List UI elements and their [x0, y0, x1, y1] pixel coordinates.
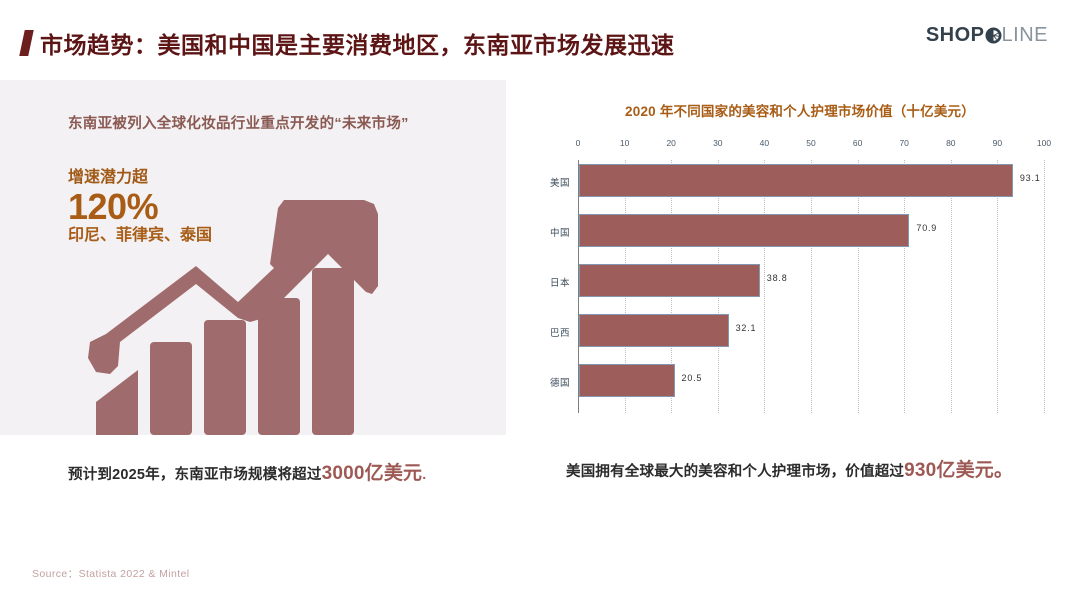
page-title: 市场趋势：美国和中国是主要消费地区，东南亚市场发展迅速: [40, 26, 675, 60]
chart-category-label: 中国: [526, 225, 570, 239]
x-axis-tick-label: 50: [806, 138, 815, 148]
kpi-value: 120%: [68, 188, 298, 226]
chart-plot-area: 010203040506070809010093.1美国70.9中国38.8日本…: [578, 138, 1048, 413]
left-caption-suffix: .: [422, 466, 426, 482]
bar-chart: 2020 年不同国家的美容和个人护理市场价值（十亿美元） 01020304050…: [530, 100, 1070, 430]
slide-header: 市场趋势：美国和中国是主要消费地区，东南亚市场发展迅速 SHOP LINE: [0, 0, 1080, 78]
source-note: Source：Statista 2022 & Mintel: [32, 566, 190, 581]
chart-category-label: 巴西: [526, 325, 570, 339]
chart-bar[interactable]: [579, 164, 1013, 197]
x-axis-tick-label: 10: [620, 138, 629, 148]
chart-bar-value-label: 20.5: [682, 373, 703, 383]
chart-bar-value-label: 93.1: [1020, 173, 1041, 183]
chart-bar[interactable]: [579, 364, 675, 397]
right-caption-prefix: 美国拥有全球最大的美容和个人护理市场，价值超过: [566, 464, 904, 480]
chart-category-label: 美国: [526, 175, 570, 189]
logo-text-shop: SHOP: [926, 25, 985, 45]
left-panel-heading: 东南亚被列入全球化妆品行业重点开发的“未来市场”: [68, 112, 498, 133]
kpi-subtext: 印尼、菲律宾、泰国: [68, 226, 298, 246]
x-axis-tick-label: 60: [853, 138, 862, 148]
x-axis-tick-label: 30: [713, 138, 722, 148]
shopline-logo: SHOP LINE: [926, 24, 1048, 46]
chart-bar-row: 20.5: [578, 364, 1044, 397]
x-axis-tick-label: 100: [1037, 138, 1051, 148]
chart-bar[interactable]: [579, 214, 909, 247]
x-axis-tick-label: 0: [576, 138, 581, 148]
chart-bar-row: 70.9: [578, 214, 1044, 247]
chart-bar-value-label: 32.1: [736, 323, 757, 333]
chart-bar-row: 32.1: [578, 314, 1044, 347]
chart-category-label: 德国: [526, 375, 570, 389]
x-axis-tick-label: 40: [760, 138, 769, 148]
left-caption: 预计到2025年，东南亚市场规模将超过3000亿美元.: [68, 458, 508, 485]
chart-gridline: [1044, 160, 1045, 413]
kpi-label: 增速潜力超: [68, 168, 298, 188]
x-axis-tick-label: 70: [899, 138, 908, 148]
x-axis-tick-label: 20: [666, 138, 675, 148]
right-caption: 美国拥有全球最大的美容和个人护理市场，价值超过930亿美元。: [566, 455, 1036, 487]
chart-bar-row: 93.1: [578, 164, 1044, 197]
x-axis-tick-label: 90: [993, 138, 1002, 148]
slide-root: 市场趋势：美国和中国是主要消费地区，东南亚市场发展迅速 SHOP LINE 东南…: [0, 0, 1080, 608]
chart-title: 2020 年不同国家的美容和个人护理市场价值（十亿美元）: [530, 100, 1070, 120]
chart-bar-row: 38.8: [578, 264, 1044, 297]
left-caption-prefix: 预计到2025年，东南亚市场规模将超过: [68, 467, 322, 483]
kpi-block: 增速潜力超 120% 印尼、菲律宾、泰国: [68, 168, 298, 246]
shopline-o-icon: [985, 27, 1002, 44]
chart-bar[interactable]: [579, 264, 760, 297]
chart-bar-value-label: 38.8: [767, 273, 788, 283]
chart-bar[interactable]: [579, 314, 729, 347]
left-caption-highlight: 3000亿美元: [322, 463, 423, 484]
right-caption-highlight: 930亿美元。: [904, 460, 1013, 481]
logo-text-line: LINE: [1002, 25, 1048, 45]
chart-category-label: 日本: [526, 275, 570, 289]
title-accent-mark: [19, 30, 34, 56]
x-axis-tick-label: 80: [946, 138, 955, 148]
chart-bar-value-label: 70.9: [916, 223, 937, 233]
